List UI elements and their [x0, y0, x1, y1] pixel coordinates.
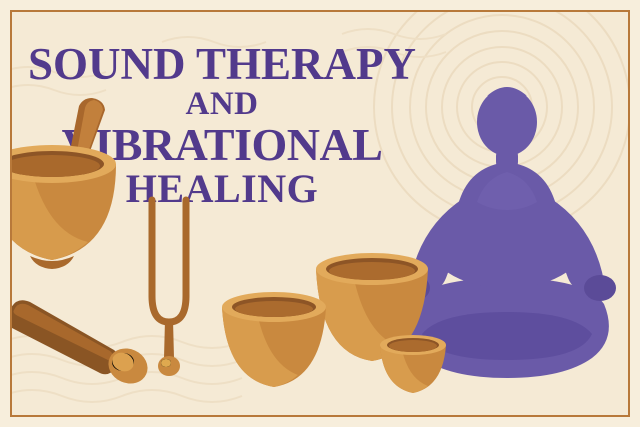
mortar-bowl: [10, 145, 116, 269]
poster-inner-frame: Sound Therapy and Vibrational Healing: [10, 10, 630, 417]
title-line-1: Sound Therapy: [12, 42, 432, 86]
singing-bowls-group: [212, 233, 472, 403]
singing-bowl-small: [380, 335, 446, 393]
poster-illustration: Sound Therapy and Vibrational Healing: [0, 0, 640, 427]
singing-bowl-medium: [222, 292, 326, 387]
tuning-fork: [140, 192, 220, 392]
